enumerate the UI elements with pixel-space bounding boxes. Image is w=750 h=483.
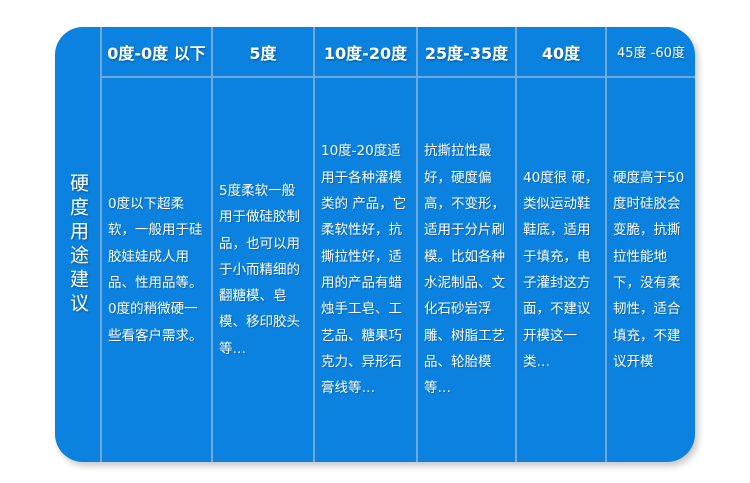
column-body-text-3: 抗撕拉性最好，硬度偏高，不变形，适用于分片刷模。比如各种水泥制品、文化石砂岩浮雕… — [424, 138, 509, 401]
column-header-cell-0: 0度-0度 以下 — [102, 27, 211, 78]
column-body-text-2: 10度-20度适用于各种灌模类的 产品，它柔软性好，抗撕拉性好，适用的产品有蜡烛… — [321, 138, 410, 401]
column-body-text-5: 硬度高于50度时硅胶会变脆，抗撕拉性能地下，没有柔韧性，适合填充，不建议开模 — [613, 165, 689, 376]
table-columns: 0度-0度 以下 0度以下超柔软，一般用于硅胶娃娃成人用品、性用品等。0度的稍微… — [102, 27, 695, 462]
column-header-cell-3: 25度-35度 — [418, 27, 515, 78]
table-column-2: 10度-20度 10度-20度适用于各种灌模类的 产品，它柔软性好，抗撕拉性好，… — [315, 27, 418, 462]
column-body-cell-2: 10度-20度适用于各种灌模类的 产品，它柔软性好，抗撕拉性好，适用的产品有蜡烛… — [315, 78, 416, 462]
column-header-text-2: 10度-20度 — [324, 40, 407, 64]
column-body-text-1: 5度柔软一般用于做硅胶制品，也可以用于小而精细的翻糖模、皂模、移印胶头等… — [219, 178, 307, 362]
column-header-text-4: 40度 — [542, 40, 580, 64]
row-label-text: 硬度用途建议 — [64, 173, 91, 317]
column-body-cell-1: 5度柔软一般用于做硅胶制品，也可以用于小而精细的翻糖模、皂模、移印胶头等… — [213, 78, 313, 462]
column-body-cell-4: 40度很 硬，类似运动鞋鞋底，适用于填充，电子灌封这方面，不建议开模这一类… — [517, 78, 605, 462]
hardness-usage-table: 硬度用途建议 0度-0度 以下 0度以下超柔软，一般用于硅胶娃娃成人用品、性用品… — [55, 27, 695, 462]
column-header-text-1: 5度 — [249, 40, 276, 64]
table-column-0: 0度-0度 以下 0度以下超柔软，一般用于硅胶娃娃成人用品、性用品等。0度的稍微… — [102, 27, 213, 462]
column-body-text-4: 40度很 硬，类似运动鞋鞋底，适用于填充，电子灌封这方面，不建议开模这一类… — [523, 165, 599, 376]
column-header-text-0: 0度-0度 以下 — [107, 40, 205, 64]
table-column-5: 45度 -60度 硬度高于50度时硅胶会变脆，抗撕拉性能地下，没有柔韧性，适合填… — [607, 27, 695, 462]
column-body-cell-0: 0度以下超柔软，一般用于硅胶娃娃成人用品、性用品等。0度的稍微硬一些看客户需求。 — [102, 78, 211, 462]
column-body-text-0: 0度以下超柔软，一般用于硅胶娃娃成人用品、性用品等。0度的稍微硬一些看客户需求。 — [108, 191, 205, 349]
column-header-text-3: 25度-35度 — [425, 40, 508, 64]
column-header-cell-5: 45度 -60度 — [607, 27, 695, 78]
column-body-cell-5: 硬度高于50度时硅胶会变脆，抗撕拉性能地下，没有柔韧性，适合填充，不建议开模 — [607, 78, 695, 462]
column-body-cell-3: 抗撕拉性最好，硬度偏高，不变形，适用于分片刷模。比如各种水泥制品、文化石砂岩浮雕… — [418, 78, 515, 462]
table-column-1: 5度 5度柔软一般用于做硅胶制品，也可以用于小而精细的翻糖模、皂模、移印胶头等… — [213, 27, 315, 462]
column-header-text-5: 45度 -60度 — [617, 42, 685, 61]
table-column-4: 40度 40度很 硬，类似运动鞋鞋底，适用于填充，电子灌封这方面，不建议开模这一… — [517, 27, 607, 462]
column-header-cell-2: 10度-20度 — [315, 27, 416, 78]
column-header-cell-4: 40度 — [517, 27, 605, 78]
table-column-3: 25度-35度 抗撕拉性最好，硬度偏高，不变形，适用于分片刷模。比如各种水泥制品… — [418, 27, 517, 462]
row-label-cell: 硬度用途建议 — [55, 27, 102, 462]
column-header-cell-1: 5度 — [213, 27, 313, 78]
